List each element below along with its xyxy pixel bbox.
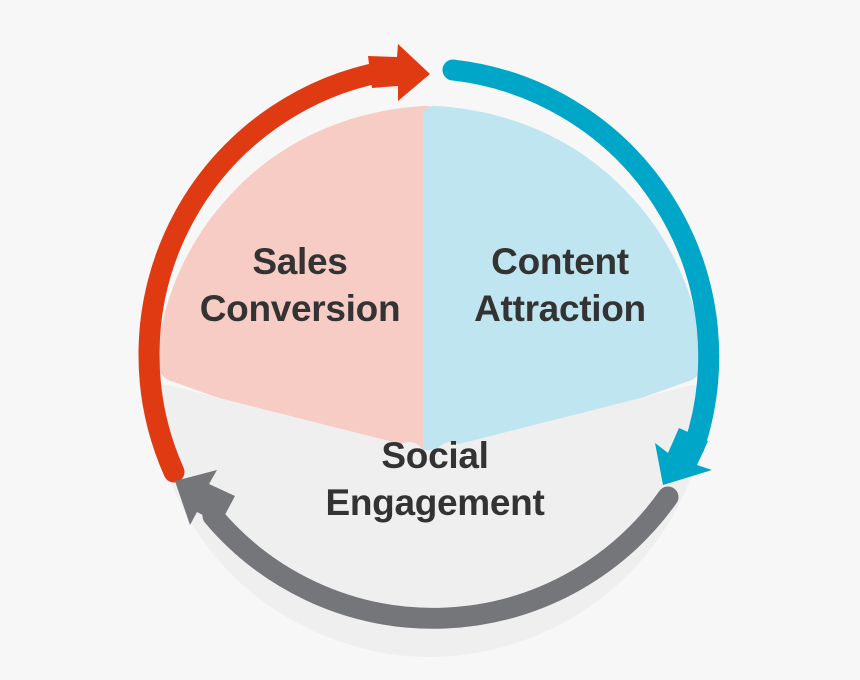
wedge-group [152, 106, 708, 657]
cycle-diagram-graphic [0, 0, 860, 680]
cycle-diagram: Sales Conversion Content Attraction Soci… [0, 0, 860, 680]
red-arrowhead [368, 44, 430, 101]
